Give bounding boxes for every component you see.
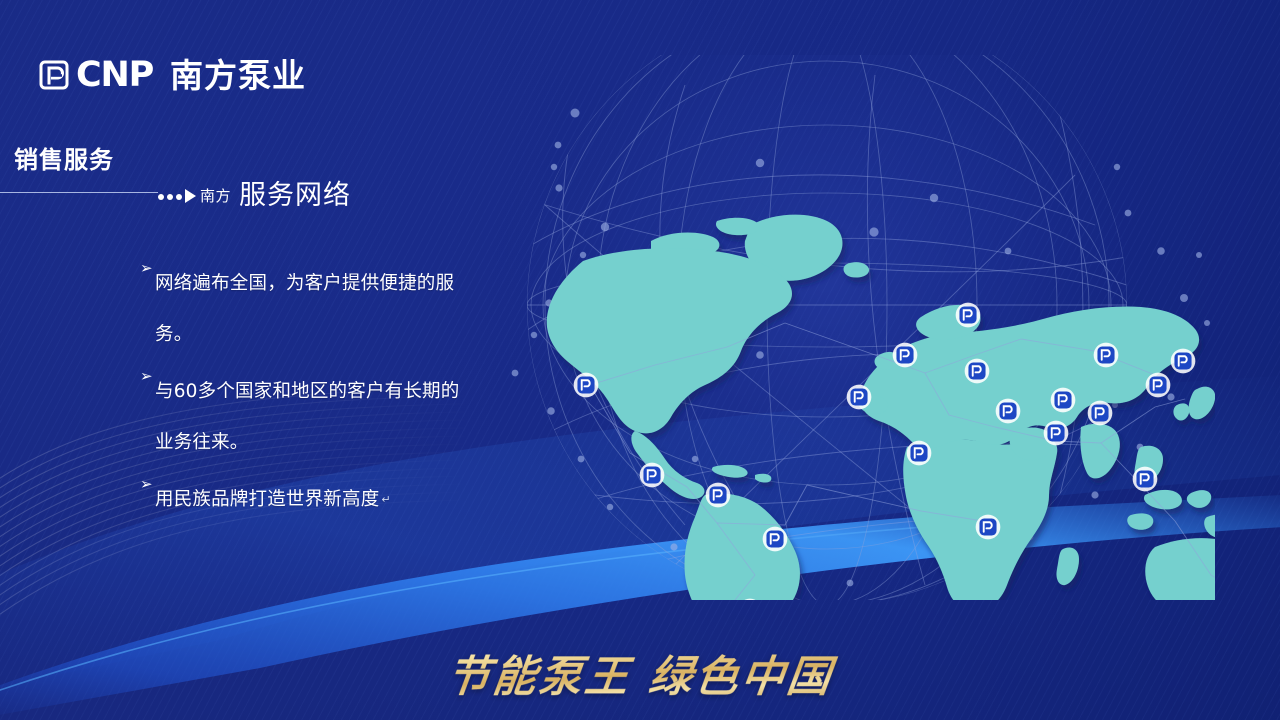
brand-logo[interactable]: CNP 南方泵业 <box>38 54 306 96</box>
bullet-arrow-icon: ➢ <box>140 477 155 492</box>
heading-divider-rule <box>0 192 158 193</box>
subsection-heading: 南方 服务网络 <box>158 175 351 209</box>
globe-svg <box>455 55 1215 600</box>
logo-chinese-text: 南方泵业 <box>170 59 306 92</box>
bullet-text: 网络遍布全国，为客户提供便捷的服务。 <box>155 258 470 360</box>
golden-slogan: 节能泵王 绿色中国 <box>0 653 1280 702</box>
bullet-text: 用民族品牌打造世界新高度↵ <box>155 474 391 525</box>
bullet-arrow-icon: ➢ <box>140 261 155 276</box>
logo-latin-text: CNP <box>76 58 153 93</box>
dot-sequence-icon <box>158 194 182 200</box>
bullet-list: ➢ 网络遍布全国，为客户提供便捷的服务。 ➢ 与60多个国家和地区的客户有长期的… <box>140 258 470 531</box>
triangle-right-icon <box>185 189 196 203</box>
list-item: ➢ 网络遍布全国，为客户提供便捷的服务。 <box>140 258 470 360</box>
bullet-arrow-icon: ➢ <box>140 369 155 384</box>
section-title: 销售服务 <box>14 140 114 175</box>
subsection-title: 服务网络 <box>239 182 351 209</box>
slide-root: CNP 南方泵业 销售服务 南方 服务网络 ➢ 网络遍布全国，为客户提供便捷的服… <box>0 0 1280 720</box>
cnp-logo-mark-icon <box>38 59 70 91</box>
subsection-prefix: 南方 <box>200 189 231 204</box>
list-item: ➢ 用民族品牌打造世界新高度↵ <box>140 474 470 525</box>
world-service-network-map <box>455 55 1215 600</box>
bullet-text-main: 用民族品牌打造世界新高度 <box>155 489 379 510</box>
list-item: ➢ 与60多个国家和地区的客户有长期的业务往来。 <box>140 366 470 468</box>
paragraph-return-mark: ↵ <box>381 493 390 506</box>
bullet-text: 与60多个国家和地区的客户有长期的业务往来。 <box>155 366 470 468</box>
